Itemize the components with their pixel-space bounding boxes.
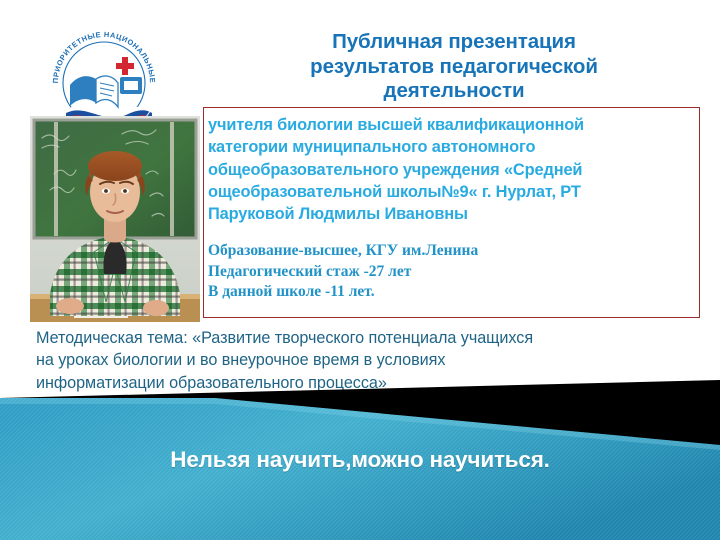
theme-line-2: на уроках биологии и во внеурочное время… (36, 349, 708, 371)
slide-quote: Нельзя научить,можно научиться. (0, 447, 720, 473)
teacher-description-block: учителя биологии высшей квалификационной… (208, 114, 700, 225)
title-line-3: деятельности (205, 79, 703, 104)
credential-experience: Педагогический стаж -27 лет (208, 262, 700, 283)
credential-education: Образование-высшее, КГУ им.Ленина (208, 241, 700, 262)
body-line-1: учителя биологии высшей квалификационной (208, 114, 700, 136)
body-line-5: Паруковой Людмилы Ивановны (208, 203, 700, 225)
teacher-credentials-block: Образование-высшее, КГУ им.Ленина Педаго… (208, 241, 700, 303)
teacher-portrait-photo (30, 116, 200, 322)
slide-title: Публичная презентация результатов педаго… (205, 30, 703, 104)
body-line-4: ощеобразовательной школы№9« г. Нурлат, Р… (208, 181, 700, 203)
body-line-3: общеобразовательного учреждения «Средней (208, 159, 700, 181)
theme-line-1: Методическая тема: «Развитие творческого… (36, 327, 708, 349)
body-line-2: категории муниципального автономного (208, 136, 700, 158)
title-line-1: Публичная презентация (205, 30, 703, 55)
title-line-2: результатов педагогической (205, 55, 703, 80)
credential-school-years: В данной школе -11 лет. (208, 282, 700, 303)
presentation-slide: ПРИОРИТЕТНЫЕ НАЦИОНАЛЬНЫЕ ПРОЕКТЫ (0, 0, 720, 540)
